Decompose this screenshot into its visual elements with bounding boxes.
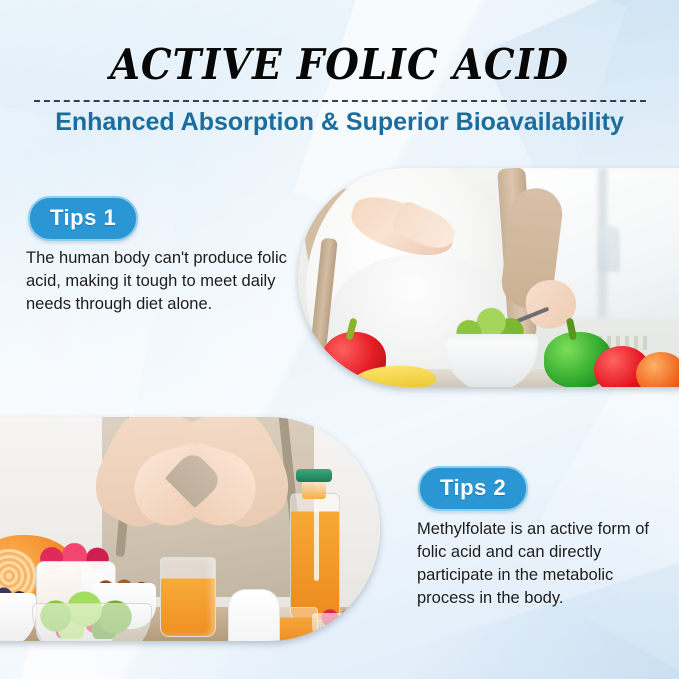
page-title: ACTIVE FOLIC ACID	[27, 0, 652, 89]
page-subtitle: Enhanced Absorption & Superior Bioavaila…	[0, 108, 679, 137]
poster-canvas: ACTIVE FOLIC ACID Enhanced Absorption & …	[0, 0, 679, 679]
milk-jug	[228, 589, 280, 641]
tip-2-badge[interactable]: Tips 2	[418, 466, 528, 511]
background-facet	[508, 347, 679, 672]
tip-1-badge[interactable]: Tips 1	[28, 196, 138, 241]
dashed-divider	[34, 100, 646, 102]
tip-1-photo	[298, 168, 679, 387]
bottle-cap	[296, 469, 332, 482]
bottle-highlight	[314, 509, 319, 581]
tip-1-text: The human body can't produce folic acid,…	[26, 247, 296, 316]
background-glass	[598, 226, 620, 272]
salad-bowl	[32, 603, 152, 641]
right-bowl	[312, 613, 370, 641]
header: ACTIVE FOLIC ACID Enhanced Absorption & …	[0, 0, 679, 137]
orange-juice-glass	[160, 557, 216, 637]
tip-2-photo	[0, 417, 380, 641]
tip-2-text: Methylfolate is an active form of folic …	[417, 518, 667, 610]
scene-pregnant-woman	[298, 168, 679, 387]
scene-heart-hands-food	[0, 417, 380, 641]
